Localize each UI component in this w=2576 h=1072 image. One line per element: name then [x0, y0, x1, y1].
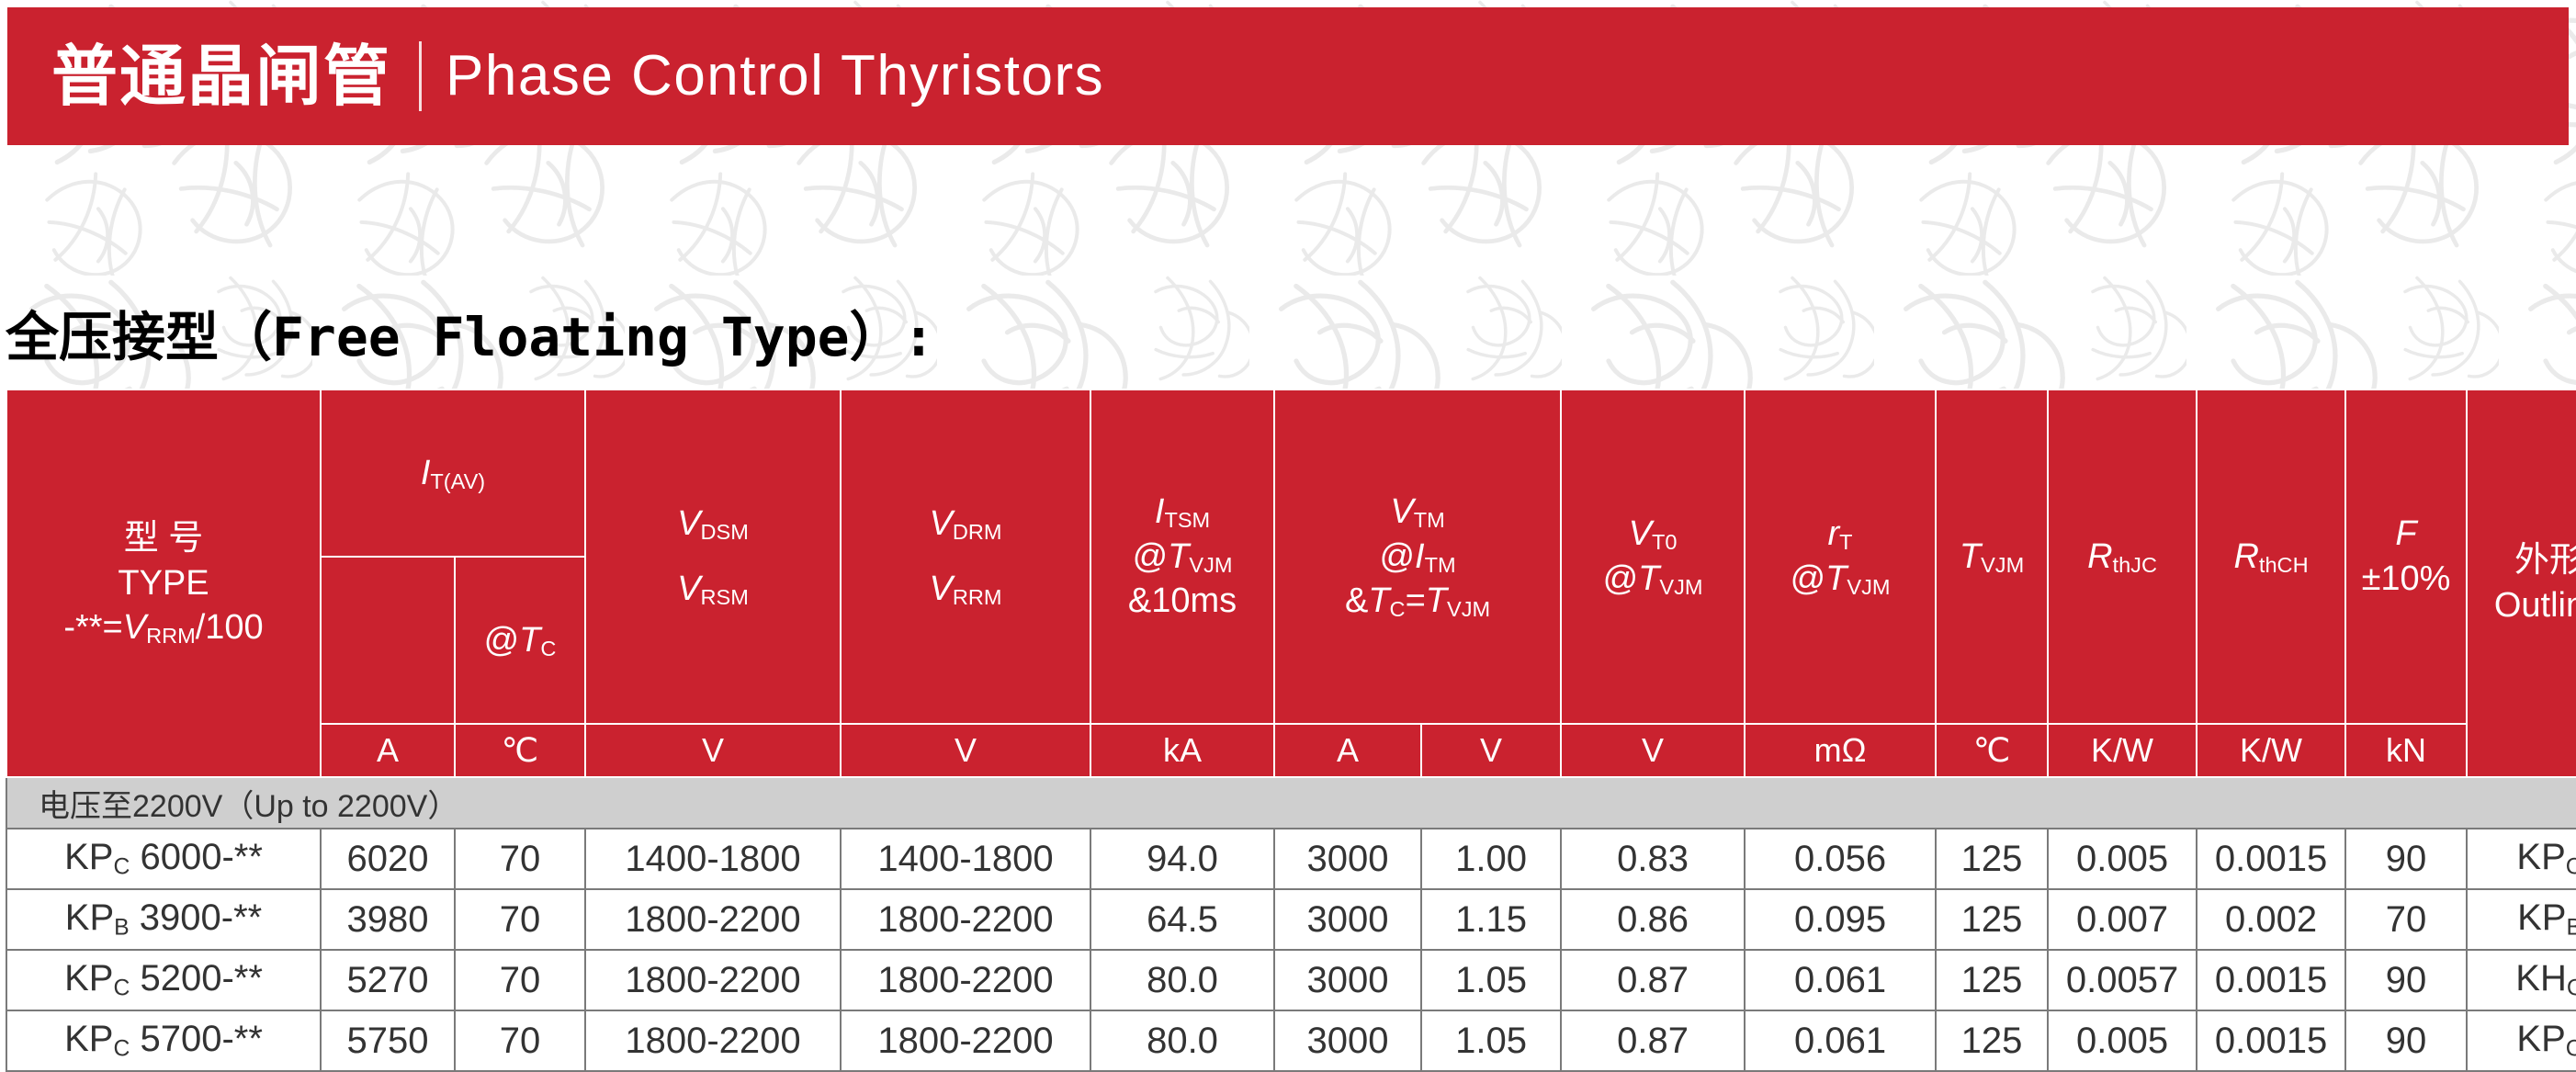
page-header-banner: 普通晶闸管 Phase Control Thyristors — [7, 7, 2569, 145]
cell-f: 90 — [2345, 829, 2467, 889]
section-title: 全压接型（Free Floating Type）: — [6, 294, 934, 371]
unit-tvjm: ℃ — [1936, 724, 2048, 777]
table-row: KPC 6000-**6020701400-18001400-180094.03… — [6, 829, 2576, 889]
unit-vtm-v: V — [1421, 724, 1561, 777]
cell-rt: 0.061 — [1745, 1010, 1936, 1071]
cell-rt: 0.061 — [1745, 950, 1936, 1010]
section-title-cn: 全压接型 — [6, 306, 219, 368]
cell-outline: KPB — [2467, 889, 2576, 950]
col-header-it-av-blank — [321, 557, 455, 724]
cell-vtm-a: 3000 — [1274, 1010, 1421, 1071]
col-header-itsm: ITSM @TVJM &10ms — [1090, 389, 1274, 724]
cell-vdrm: 1800-2200 — [841, 1010, 1090, 1071]
cell-vt0: 0.86 — [1561, 889, 1745, 950]
section-title-en: （Free Floating Type）: — [219, 306, 934, 368]
cell-outline: KPC — [2467, 1010, 2576, 1071]
col-header-outline-en: Outline — [2468, 583, 2576, 628]
unit-rthjc: K/W — [2048, 724, 2197, 777]
table-row: KPB 3900-**3980701800-22001800-220064.53… — [6, 889, 2576, 950]
unit-rthch: K/W — [2197, 724, 2345, 777]
cell-f: 70 — [2345, 889, 2467, 950]
col-header-f: F ±10% — [2345, 389, 2467, 724]
cell-it-av: 6020 — [321, 829, 455, 889]
cell-rthjc: 0.0057 — [2048, 950, 2197, 1010]
cell-rt: 0.095 — [1745, 889, 1936, 950]
unit-vtm-a: A — [1274, 724, 1421, 777]
col-header-vdrm-vrrm: VDRM VRRM — [841, 389, 1090, 724]
unit-f: kN — [2345, 724, 2467, 777]
col-header-tvjm: TVJM — [1936, 389, 2048, 724]
cell-vdrm: 1800-2200 — [841, 950, 1090, 1010]
cell-vtm-v: 1.00 — [1421, 829, 1561, 889]
cell-type: KPC 6000-** — [6, 829, 321, 889]
col-header-vdsm-vrsm: VDSM VRSM — [585, 389, 841, 724]
col-header-type-en: TYPE — [7, 561, 320, 606]
cell-rthch: 0.002 — [2197, 889, 2345, 950]
group-row-voltage-range: 电压至2200V（Up to 2200V） — [6, 777, 2576, 829]
cell-type: KPC 5700-** — [6, 1010, 321, 1071]
banner-title-cn: 普通晶闸管 — [51, 43, 391, 109]
col-header-type-cn: 型 号 — [7, 516, 320, 561]
cell-type: KPC 5200-** — [6, 950, 321, 1010]
group-row-label: 电压至2200V（Up to 2200V） — [6, 777, 2576, 829]
cell-it-av: 3980 — [321, 889, 455, 950]
cell-vtm-v: 1.05 — [1421, 950, 1561, 1010]
col-header-outline-cn: 外形 — [2468, 538, 2576, 583]
unit-rt: mΩ — [1745, 724, 1936, 777]
cell-tvjm: 125 — [1936, 1010, 2048, 1071]
cell-vtm-a: 3000 — [1274, 950, 1421, 1010]
cell-rthch: 0.0015 — [2197, 1010, 2345, 1071]
cell-vdsm: 1800-2200 — [585, 889, 841, 950]
col-header-it-av: IT(AV) — [321, 389, 585, 557]
banner-title-en: Phase Control Thyristors — [446, 48, 1104, 105]
datasheet-page: 普通晶闸管 Phase Control Thyristors 全压接型（Free… — [0, 0, 2576, 1019]
table-row: KPC 5700-**5750701800-22001800-220080.03… — [6, 1010, 2576, 1071]
cell-vt0: 0.83 — [1561, 829, 1745, 889]
cell-tc: 70 — [455, 829, 585, 889]
cell-tc: 70 — [455, 1010, 585, 1071]
unit-vdrm: V — [841, 724, 1090, 777]
specification-table: 型 号 TYPE -**=VRRM/100 IT(AV) VDSM VRSM V… — [6, 389, 2576, 1072]
cell-f: 90 — [2345, 1010, 2467, 1071]
unit-vt0: V — [1561, 724, 1745, 777]
cell-vtm-v: 1.15 — [1421, 889, 1561, 950]
unit-it-av: A — [321, 724, 455, 777]
cell-vt0: 0.87 — [1561, 1010, 1745, 1071]
cell-rthjc: 0.005 — [2048, 829, 2197, 889]
cell-rthjc: 0.005 — [2048, 1010, 2197, 1071]
cell-tvjm: 125 — [1936, 889, 2048, 950]
cell-itsm: 94.0 — [1090, 829, 1274, 889]
col-header-at-tc: @TC — [455, 557, 585, 724]
col-header-rthch: RthCH — [2197, 389, 2345, 724]
cell-rthjc: 0.007 — [2048, 889, 2197, 950]
table-header: 型 号 TYPE -**=VRRM/100 IT(AV) VDSM VRSM V… — [6, 389, 2576, 777]
cell-it-av: 5750 — [321, 1010, 455, 1071]
cell-outline: KPC — [2467, 829, 2576, 889]
header-row-units: A ℃ V V kA A V V mΩ ℃ K/W K/W kN — [6, 724, 2576, 777]
cell-type: KPB 3900-** — [6, 889, 321, 950]
cell-vdrm: 1800-2200 — [841, 889, 1090, 950]
cell-rthch: 0.0015 — [2197, 950, 2345, 1010]
banner-divider — [419, 41, 422, 111]
cell-f: 90 — [2345, 950, 2467, 1010]
cell-vdsm: 1400-1800 — [585, 829, 841, 889]
table-row: KPC 5200-**5270701800-22001800-220080.03… — [6, 950, 2576, 1010]
col-header-vt0: VT0 @TVJM — [1561, 389, 1745, 724]
cell-vdsm: 1800-2200 — [585, 1010, 841, 1071]
cell-outline: KHC — [2467, 950, 2576, 1010]
header-row-main: 型 号 TYPE -**=VRRM/100 IT(AV) VDSM VRSM V… — [6, 389, 2576, 557]
col-header-rt: rT @TVJM — [1745, 389, 1936, 724]
cell-vtm-v: 1.05 — [1421, 1010, 1561, 1071]
cell-vdsm: 1800-2200 — [585, 950, 841, 1010]
col-header-type-note: -**=VRRM/100 — [7, 605, 320, 650]
col-header-rthjc: RthJC — [2048, 389, 2197, 724]
table-body: 电压至2200V（Up to 2200V）KPC 6000-**60207014… — [6, 777, 2576, 1071]
cell-it-av: 5270 — [321, 950, 455, 1010]
col-header-type: 型 号 TYPE -**=VRRM/100 — [6, 389, 321, 777]
cell-rthch: 0.0015 — [2197, 829, 2345, 889]
cell-vdrm: 1400-1800 — [841, 829, 1090, 889]
cell-vt0: 0.87 — [1561, 950, 1745, 1010]
cell-rt: 0.056 — [1745, 829, 1936, 889]
cell-vtm-a: 3000 — [1274, 889, 1421, 950]
cell-itsm: 64.5 — [1090, 889, 1274, 950]
cell-itsm: 80.0 — [1090, 1010, 1274, 1071]
unit-itsm: kA — [1090, 724, 1274, 777]
col-header-outline: 外形 Outline — [2467, 389, 2576, 777]
unit-tc: ℃ — [455, 724, 585, 777]
cell-tvjm: 125 — [1936, 950, 2048, 1010]
unit-vdsm: V — [585, 724, 841, 777]
cell-itsm: 80.0 — [1090, 950, 1274, 1010]
col-header-vtm: VTM @ITM &TC=TVJM — [1274, 389, 1561, 724]
cell-tc: 70 — [455, 950, 585, 1010]
cell-tvjm: 125 — [1936, 829, 2048, 889]
cell-tc: 70 — [455, 889, 585, 950]
cell-vtm-a: 3000 — [1274, 829, 1421, 889]
